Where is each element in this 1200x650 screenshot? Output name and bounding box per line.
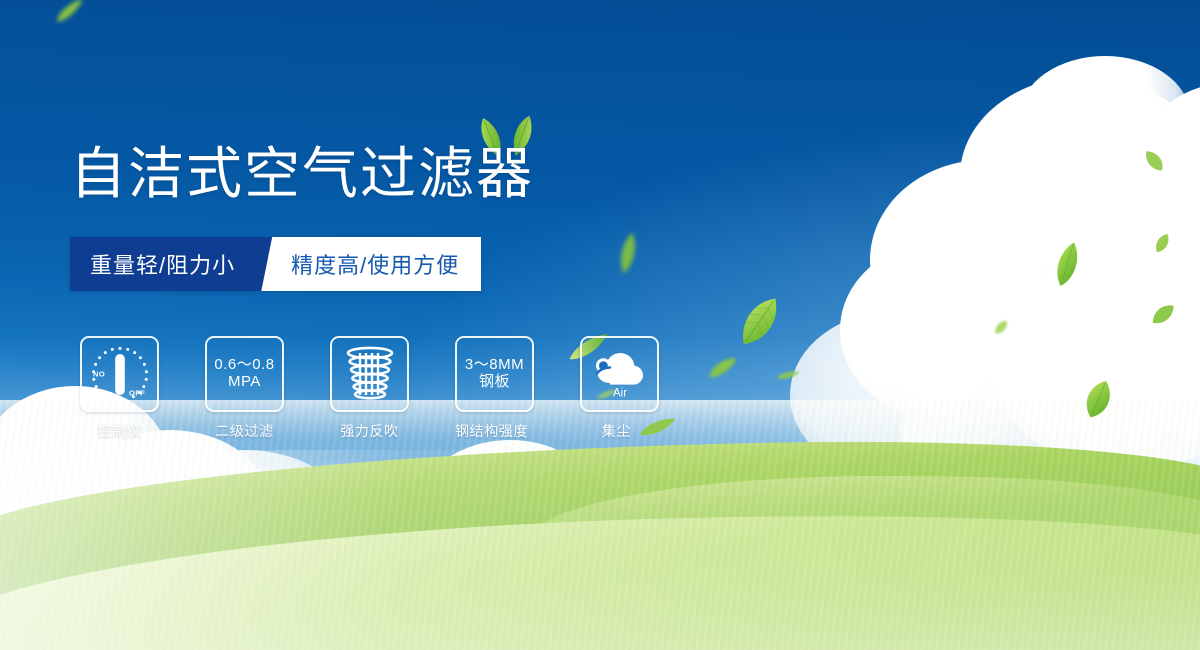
- feature-label: 控制仪: [80, 421, 159, 441]
- feature-item-secondary-filter[interactable]: 0.6～0.8 MPA 二级过滤: [205, 336, 284, 441]
- dial-gauge-icon: NO OFF: [88, 343, 152, 405]
- feature-item-controller[interactable]: NO OFF 控制仪: [80, 336, 159, 441]
- svg-text:NO: NO: [93, 370, 105, 379]
- feature-icon-box: 0.6～0.8 MPA: [205, 336, 284, 412]
- banner-stage: 自洁式空气过滤器 重量轻/阻力小 精度高/使用方便: [0, 0, 1200, 650]
- tagline-separator: [257, 237, 283, 291]
- feature-item-blowback[interactable]: 强力反吹: [330, 336, 409, 441]
- feature-icon-box: Air: [580, 336, 659, 412]
- tagline-left: 重量轻/阻力小: [70, 237, 257, 291]
- feature-item-dust-collection[interactable]: Air 集尘: [580, 336, 659, 441]
- page-title: 自洁式空气过滤器: [70, 146, 534, 202]
- svg-text:OFF: OFF: [129, 389, 145, 398]
- feature-label: 钢结构强度: [449, 421, 534, 441]
- feature-label: 集尘: [574, 421, 659, 441]
- banner-content: 自洁式空气过滤器 重量轻/阻力小 精度高/使用方便: [0, 0, 1200, 650]
- feature-icon-box: NO OFF: [80, 336, 159, 412]
- tagline-bar: 重量轻/阻力小 精度高/使用方便: [70, 237, 481, 291]
- air-cloud-icon: Air: [588, 343, 652, 405]
- feature-icon-box: [330, 336, 409, 412]
- svg-text:Air: Air: [612, 388, 626, 400]
- feature-icon-box: 3～8MM 钢板: [455, 336, 534, 412]
- feature-list: NO OFF 控制仪 0.6～0.8 MPA 二级过滤: [80, 336, 659, 441]
- filter-coil-icon: [338, 343, 402, 405]
- feature-label: 强力反吹: [330, 421, 409, 441]
- pressure-text-icon: 0.6～0.8 MPA: [214, 357, 274, 391]
- feature-label: 二级过滤: [205, 421, 284, 441]
- steel-text-icon: 3～8MM 钢板: [465, 357, 524, 391]
- feature-item-steel-strength[interactable]: 3～8MM 钢板 钢结构强度: [455, 336, 534, 441]
- tagline-right: 精度高/使用方便: [283, 237, 481, 291]
